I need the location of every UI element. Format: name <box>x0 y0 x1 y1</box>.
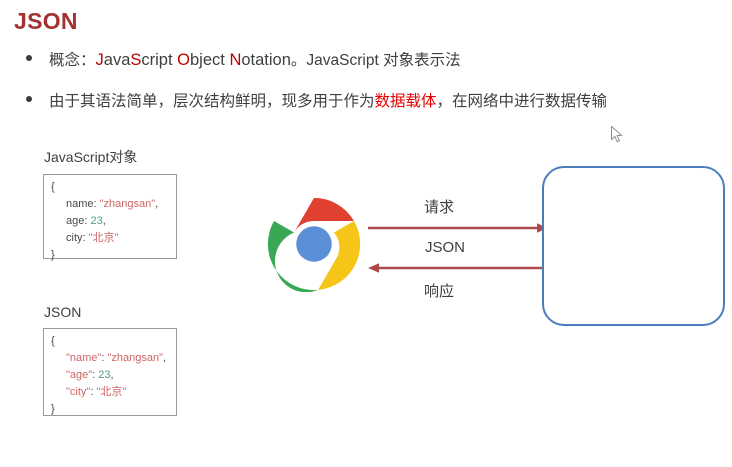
bullet-text-usage: 由于其语法简单，层次结构鲜明，现多用于作为数据载体，在网络中进行数据传输 <box>49 92 607 112</box>
bullet-marker-icon <box>26 55 32 61</box>
code-comma: , <box>111 369 114 381</box>
code-comma: , <box>163 352 166 364</box>
code-heading-javascript-object: JavaScript对象 <box>44 148 137 166</box>
bullet-1-prefix: 概念： <box>49 52 96 69</box>
code-comma: , <box>103 215 106 227</box>
code-line-city: "city": "北京" <box>51 384 168 401</box>
server-box <box>542 166 725 326</box>
mouse-pointer-icon <box>611 126 623 143</box>
code-key-age: "age" <box>66 369 92 381</box>
code-line-name: name: "zhangsan", <box>51 196 168 213</box>
bullet-1-seg-3: cript <box>141 51 177 69</box>
code-value-name: "zhangsan" <box>100 198 156 210</box>
bullet-1-seg-4: O <box>177 51 190 69</box>
code-comma: , <box>155 198 158 210</box>
code-line-age: "age": 23, <box>51 367 168 384</box>
bullet-item-concept: 概念：JavaScript Object Notation。JavaScript… <box>26 50 461 71</box>
arrow-label-request: 请求 <box>424 198 454 218</box>
bullet-2-highlight: 数据载体 <box>375 93 437 110</box>
bullet-1-seg-7: otation <box>241 51 291 69</box>
bullet-1-seg-2: S <box>130 51 141 69</box>
arrow-label-payload: JSON <box>425 238 465 258</box>
page-title: JSON <box>14 7 78 35</box>
bullet-item-usage: 由于其语法简单，层次结构鲜明，现多用于作为数据载体，在网络中进行数据传输 <box>26 92 607 112</box>
code-box-javascript-object: { name: "zhangsan", age: 23, city: "北京" … <box>43 174 177 259</box>
bullet-1-seg-0: J <box>96 51 104 69</box>
code-line-close-brace: } <box>51 401 168 418</box>
code-value-city: "北京" <box>89 232 119 244</box>
code-line-age: age: 23, <box>51 213 168 230</box>
code-line-city: city: "北京" <box>51 230 168 247</box>
code-value-city: "北京" <box>96 386 126 398</box>
bullet-1-seg-1: ava <box>104 51 131 69</box>
code-key-city: city <box>66 232 83 244</box>
code-key-city: "city" <box>66 386 90 398</box>
bullet-1-seg-5: bject <box>190 51 229 69</box>
code-value-age: 23 <box>90 215 102 227</box>
code-heading-json: JSON <box>44 303 81 321</box>
code-key-name: "name" <box>66 352 101 364</box>
bullet-1-suffix: 。JavaScript 对象表示法 <box>291 52 461 69</box>
code-line-open-brace: { <box>51 179 168 196</box>
chrome-logo-icon <box>266 196 362 292</box>
arrow-label-response: 响应 <box>424 282 454 302</box>
code-key-name: name <box>66 198 94 210</box>
bullet-marker-icon <box>26 96 32 102</box>
code-line-close-brace: } <box>51 247 168 264</box>
arrow-request <box>368 220 548 236</box>
bullet-text-concept: 概念：JavaScript Object Notation。JavaScript… <box>49 50 461 71</box>
bullet-2-prefix: 由于其语法简单，层次结构鲜明，现多用于作为 <box>49 93 375 110</box>
bullet-1-seg-6: N <box>229 51 241 69</box>
code-line-name: "name": "zhangsan", <box>51 350 168 367</box>
arrow-response <box>368 260 548 276</box>
bullet-2-suffix: ，在网络中进行数据传输 <box>437 93 608 110</box>
code-key-age: age <box>66 215 84 227</box>
code-line-open-brace: { <box>51 333 168 350</box>
code-box-json: { "name": "zhangsan", "age": 23, "city":… <box>43 328 177 416</box>
code-value-name: "zhangsan" <box>107 352 163 364</box>
code-value-age: 23 <box>98 369 110 381</box>
